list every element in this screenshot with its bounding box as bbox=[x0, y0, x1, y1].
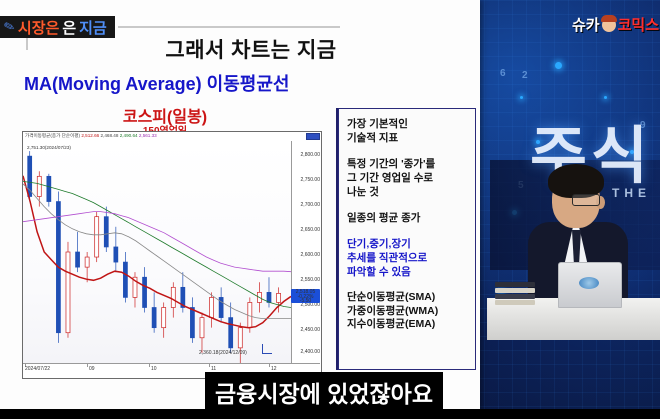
note-item-5: 단순이동평균(SMA) bbox=[347, 291, 469, 305]
chart-svg bbox=[23, 141, 291, 363]
books-stack bbox=[495, 282, 535, 304]
channel-logo-right: 코믹스 bbox=[618, 14, 659, 35]
note-item-2: 특정 기간의 '종가'를 그 기간 영업일 수로 나눈 것 bbox=[347, 157, 469, 199]
laptop-logo-icon bbox=[579, 277, 599, 289]
background-number-6: 6 bbox=[500, 68, 506, 79]
presenter-hair bbox=[548, 164, 604, 198]
y-tick-3: 2,650.00 bbox=[301, 227, 320, 233]
note-item-7: 지수이동평균(EMA) bbox=[347, 318, 469, 332]
chart-first-annotation: 2,751.30(2024/07/23) bbox=[27, 145, 71, 150]
x-tick-0: 2024/07/22 bbox=[25, 366, 50, 372]
mascot-face-icon bbox=[602, 18, 616, 32]
chart-legend-ma20: 2,468.48 bbox=[101, 133, 119, 138]
chart-legend-label: 가격이동평균(종가 단순이평) bbox=[25, 133, 80, 138]
x-tick-2: 10 bbox=[151, 366, 157, 372]
y-tick-2: 2,700.00 bbox=[301, 202, 320, 208]
y-tick-1: 2,750.00 bbox=[301, 177, 320, 183]
chart-tool-button[interactable] bbox=[306, 133, 320, 140]
y-tick-5: 2,550.00 bbox=[301, 277, 320, 283]
laptop bbox=[558, 262, 622, 308]
x-tick-1: 09 bbox=[89, 366, 95, 372]
slide-panel: ✎ 시장은 은 지금 그래서 차트는 지금 MA(Moving Average)… bbox=[0, 0, 480, 419]
y-tick-4: 2,600.00 bbox=[301, 252, 320, 258]
chart-plot-area: 2,751.30(2024/07/23) bbox=[23, 141, 291, 363]
current-price-marker: 2,518.05 -0.22% -5.50 bbox=[291, 289, 320, 303]
current-price-delta: -5.50 bbox=[291, 299, 320, 304]
banner-rule bbox=[118, 26, 340, 28]
chart-y-axis: 2,800.00 2,750.00 2,700.00 2,650.00 2,60… bbox=[291, 141, 321, 363]
note-item-4: 단기,중기,장기 추세를 직관적으로 파악할 수 있음 bbox=[347, 237, 469, 279]
slide-subtitle: MA(Moving Average) 이동평균선 bbox=[24, 70, 324, 96]
chart-legend-ma120: 2,561.33 bbox=[139, 133, 157, 138]
slide-title: 그래서 차트는 지금 bbox=[0, 34, 480, 64]
note-item-6: 가중이동평균(WMA) bbox=[347, 305, 469, 319]
caption-subtitle: 금융시장에 있었잖아요 bbox=[205, 372, 443, 414]
chart-legend: 가격이동평균(종가 단순이평) 2,512.66 2,468.48 2,490.… bbox=[25, 133, 157, 139]
chart-low-pointer-h bbox=[262, 353, 272, 354]
channel-logo: 슈카 코믹스 bbox=[572, 14, 659, 35]
screenshot-root: 6 2 5 9 주식 THE 슈카 코믹스 ✎ 시장은 은 bbox=[0, 0, 660, 419]
y-tick-7: 2,450.00 bbox=[301, 327, 320, 333]
bottom-letterbox bbox=[0, 409, 660, 419]
y-tick-8: 2,400.00 bbox=[301, 349, 320, 355]
note-item-3: 일종의 평균 종가 bbox=[347, 211, 469, 225]
note-item-1: 가장 기본적인 기술적 지표 bbox=[347, 117, 469, 145]
notes-panel: 가장 기본적인 기술적 지표 특정 기간의 '종가'를 그 기간 영업일 수로 … bbox=[338, 108, 476, 370]
background-number-2: 2 bbox=[522, 70, 528, 81]
y-tick-0: 2,800.00 bbox=[301, 152, 320, 158]
kospi-chart[interactable]: 가격이동평균(종가 단순이평) 2,512.66 2,468.48 2,490.… bbox=[22, 131, 322, 379]
presenter-glasses bbox=[572, 194, 600, 206]
channel-logo-left: 슈카 bbox=[572, 14, 600, 35]
chart-legend-ma5: 2,512.66 bbox=[81, 133, 99, 138]
chart-low-annotation: 2,360.18(2024/12/09) bbox=[199, 350, 247, 356]
chart-legend-ma60: 2,490.64 bbox=[120, 133, 138, 138]
